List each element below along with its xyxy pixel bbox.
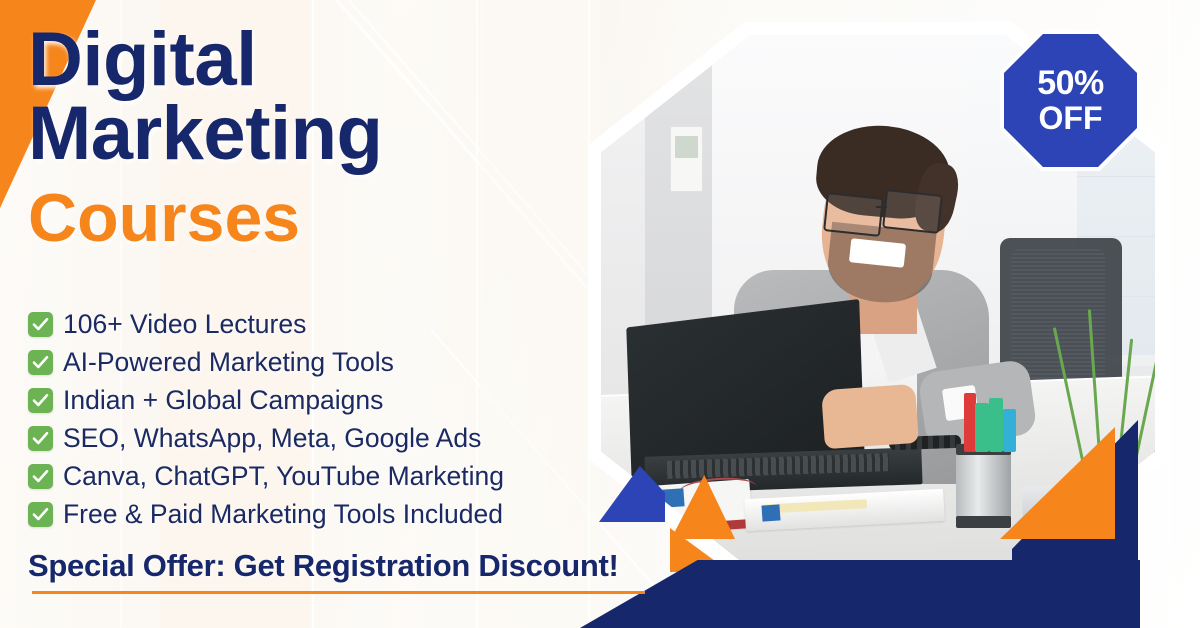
feature-list: 106+ Video Lectures AI-Powered Marketing… bbox=[28, 305, 628, 533]
promo-banner: Digital Marketing Courses 106+ Video Lec… bbox=[0, 0, 1200, 628]
badge-percent-label: 50% bbox=[1037, 66, 1104, 102]
special-offer-text: Special Offer: Get Registration Discount… bbox=[28, 548, 619, 584]
list-item-label: SEO, WhatsApp, Meta, Google Ads bbox=[63, 423, 481, 454]
badge-inner-octagon: 50% OFF bbox=[1004, 34, 1137, 167]
list-item-label: Indian + Global Campaigns bbox=[63, 385, 383, 416]
headline-line-1: Digital bbox=[28, 24, 588, 96]
list-item-label: Canva, ChatGPT, YouTube Marketing bbox=[63, 461, 504, 492]
list-item: Indian + Global Campaigns bbox=[28, 381, 628, 419]
list-item-label: AI-Powered Marketing Tools bbox=[63, 347, 394, 378]
person-hands-typing bbox=[821, 384, 919, 449]
list-item: Free & Paid Marketing Tools Included bbox=[28, 495, 628, 533]
pen-holder bbox=[956, 446, 1011, 526]
background-vertical-line-4 bbox=[1168, 0, 1170, 628]
check-icon bbox=[28, 426, 53, 451]
headline-line-3: Courses bbox=[28, 186, 588, 251]
headline-block: Digital Marketing Courses bbox=[28, 24, 588, 251]
list-item-label: 106+ Video Lectures bbox=[63, 309, 306, 340]
list-item: AI-Powered Marketing Tools bbox=[28, 343, 628, 381]
headline-line-2: Marketing bbox=[28, 98, 588, 170]
eyeglasses-icon bbox=[823, 192, 883, 236]
list-item: Canva, ChatGPT, YouTube Marketing bbox=[28, 457, 628, 495]
badge-off-label: OFF bbox=[1039, 102, 1103, 136]
check-icon bbox=[28, 502, 53, 527]
check-icon bbox=[28, 464, 53, 489]
list-item: SEO, WhatsApp, Meta, Google Ads bbox=[28, 419, 628, 457]
check-icon bbox=[28, 350, 53, 375]
check-icon bbox=[28, 312, 53, 337]
offer-underline-rule bbox=[32, 591, 645, 594]
list-item-label: Free & Paid Marketing Tools Included bbox=[63, 499, 503, 530]
thermostat-on-wall bbox=[670, 126, 702, 192]
discount-badge[interactable]: 50% OFF bbox=[1000, 30, 1141, 171]
check-icon bbox=[28, 388, 53, 413]
list-item: 106+ Video Lectures bbox=[28, 305, 628, 343]
